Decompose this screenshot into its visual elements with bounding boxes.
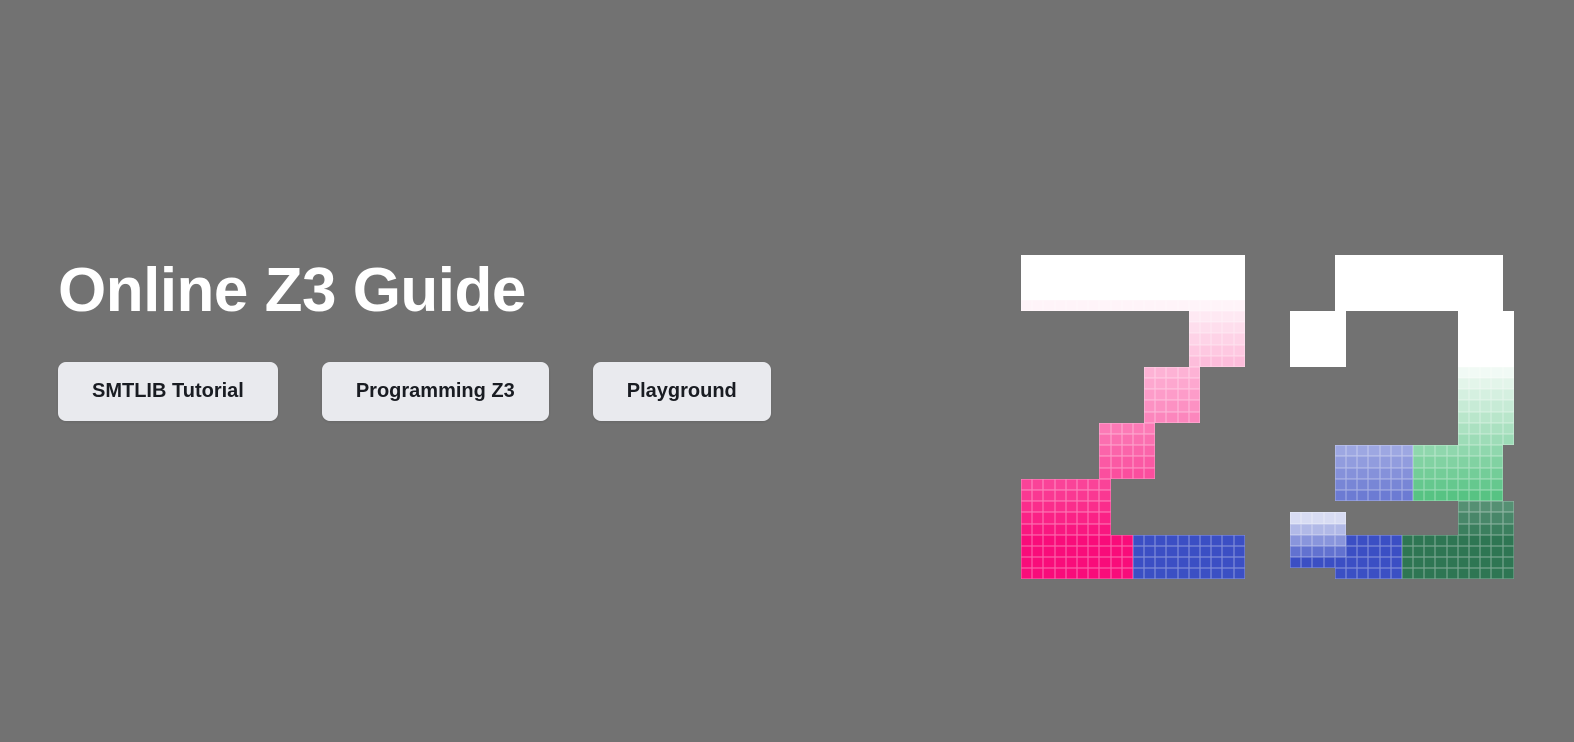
logo-pixel — [1380, 378, 1391, 389]
logo-pixel — [1021, 434, 1032, 445]
logo-pixel — [1088, 535, 1099, 546]
logo-pixel — [1122, 535, 1133, 546]
logo-pixel — [1077, 501, 1088, 512]
logo-pixel — [1301, 300, 1312, 311]
logo-pixel — [1200, 333, 1211, 344]
logo-pixel — [1211, 389, 1222, 400]
logo-pixel — [1335, 445, 1346, 456]
logo-pixel — [1066, 468, 1077, 479]
logo-pixel — [1380, 400, 1391, 411]
logo-pixel — [1324, 456, 1335, 467]
logo-pixel — [1447, 300, 1458, 311]
logo-pixel — [1480, 490, 1491, 501]
logo-pixel — [1088, 490, 1099, 501]
logo-pixel — [1413, 423, 1424, 434]
logo-pixel — [1357, 512, 1368, 523]
logo-pixel — [1458, 445, 1469, 456]
logo-pixel — [1312, 289, 1323, 300]
logo-pixel — [1133, 266, 1144, 277]
logo-pixel — [1335, 512, 1346, 523]
logo-pixel — [1032, 322, 1043, 333]
logo-pixel — [1133, 367, 1144, 378]
page-title: Online Z3 Guide — [58, 258, 958, 323]
logo-pixel — [1155, 300, 1166, 311]
logo-pixel — [1088, 512, 1099, 523]
logo-pixel — [1155, 568, 1166, 579]
logo-pixel — [1301, 345, 1312, 356]
logo-pixel — [1491, 289, 1502, 300]
logo-pixel — [1021, 333, 1032, 344]
logo-pixel — [1357, 434, 1368, 445]
logo-pixel — [1099, 345, 1110, 356]
logo-pixel — [1234, 277, 1245, 288]
logo-pixel — [1133, 557, 1144, 568]
logo-pixel — [1312, 535, 1323, 546]
logo-pixel — [1402, 289, 1413, 300]
logo-pixel — [1402, 423, 1413, 434]
logo-pixel — [1368, 378, 1379, 389]
logo-pixel — [1144, 356, 1155, 367]
logo-pixel — [1503, 322, 1514, 333]
logo-pixel — [1133, 311, 1144, 322]
logo-pixel — [1088, 445, 1099, 456]
logo-pixel — [1166, 311, 1177, 322]
logo-pixel — [1469, 512, 1480, 523]
logo-pixel — [1335, 557, 1346, 568]
logo-pixel — [1055, 255, 1066, 266]
logo-pixel — [1077, 255, 1088, 266]
logo-pixel — [1178, 367, 1189, 378]
logo-pixel — [1166, 490, 1177, 501]
logo-pixel — [1043, 445, 1054, 456]
logo-pixel — [1435, 434, 1446, 445]
logo-pixel — [1447, 333, 1458, 344]
logo-pixel — [1368, 434, 1379, 445]
logo-pixel — [1324, 445, 1335, 456]
logo-pixel — [1491, 266, 1502, 277]
logo-pixel — [1424, 400, 1435, 411]
logo-pixel — [1413, 400, 1424, 411]
logo-pixel — [1222, 378, 1233, 389]
logo-pixel — [1234, 434, 1245, 445]
logo-pixel — [1391, 490, 1402, 501]
logo-pixel — [1424, 557, 1435, 568]
logo-pixel — [1435, 367, 1446, 378]
logo-pixel — [1368, 568, 1379, 579]
logo-pixel — [1402, 345, 1413, 356]
logo-pixel — [1189, 367, 1200, 378]
logo-pixel — [1222, 524, 1233, 535]
logo-pixel — [1391, 389, 1402, 400]
logo-pixel — [1166, 535, 1177, 546]
logo-pixel — [1055, 311, 1066, 322]
logo-pixel — [1391, 524, 1402, 535]
logo-pixel — [1290, 311, 1301, 322]
logo-pixel — [1312, 468, 1323, 479]
logo-pixel — [1413, 289, 1424, 300]
logo-pixel — [1189, 389, 1200, 400]
logo-pixel — [1178, 277, 1189, 288]
logo-pixel — [1133, 524, 1144, 535]
logo-pixel — [1200, 568, 1211, 579]
playground-button[interactable]: Playground — [593, 362, 771, 421]
logo-pixel — [1301, 557, 1312, 568]
logo-pixel — [1234, 333, 1245, 344]
logo-pixel — [1144, 512, 1155, 523]
logo-pixel — [1055, 535, 1066, 546]
logo-pixel — [1043, 255, 1054, 266]
logo-pixel — [1335, 535, 1346, 546]
logo-pixel — [1380, 289, 1391, 300]
logo-pixel — [1491, 445, 1502, 456]
logo-pixel — [1211, 277, 1222, 288]
logo-pixel — [1480, 400, 1491, 411]
logo-pixel — [1144, 289, 1155, 300]
logo-pixel — [1099, 445, 1110, 456]
logo-pixel — [1469, 524, 1480, 535]
logo-pixel — [1357, 445, 1368, 456]
logo-pixel — [1480, 546, 1491, 557]
logo-pixel — [1133, 546, 1144, 557]
logo-pixel — [1055, 412, 1066, 423]
logo-pixel — [1144, 479, 1155, 490]
logo-pixel — [1077, 322, 1088, 333]
logo-pixel — [1144, 557, 1155, 568]
logo-pixel — [1055, 367, 1066, 378]
logo-pixel — [1380, 479, 1391, 490]
logo-pixel — [1480, 445, 1491, 456]
logo-pixel — [1301, 311, 1312, 322]
logo-pixel — [1178, 479, 1189, 490]
logo-pixel — [1166, 277, 1177, 288]
z3-pixel-logo — [1015, 255, 1535, 595]
logo-pixel — [1491, 412, 1502, 423]
logo-pixel — [1491, 501, 1502, 512]
logo-pixel — [1447, 289, 1458, 300]
logo-pixel — [1380, 345, 1391, 356]
logo-pixel — [1424, 356, 1435, 367]
logo-pixel — [1234, 445, 1245, 456]
logo-pixel — [1166, 524, 1177, 535]
logo-pixel — [1155, 289, 1166, 300]
logo-pixel — [1211, 434, 1222, 445]
logo-pixel — [1222, 501, 1233, 512]
logo-pixel — [1043, 501, 1054, 512]
logo-pixel — [1155, 423, 1166, 434]
logo-pixel — [1424, 266, 1435, 277]
logo-pixel — [1032, 378, 1043, 389]
logo-pixel — [1122, 367, 1133, 378]
logo-pixel — [1200, 289, 1211, 300]
logo-pixel — [1211, 423, 1222, 434]
logo-pixel — [1122, 300, 1133, 311]
logo-pixel — [1324, 389, 1335, 400]
logo-pixel — [1458, 546, 1469, 557]
logo-pixel — [1178, 456, 1189, 467]
logo-pixel — [1055, 333, 1066, 344]
logo-pixel — [1055, 546, 1066, 557]
logo-pixel — [1178, 311, 1189, 322]
logo-pixel — [1413, 445, 1424, 456]
hero-text-block: Online Z3 Guide SMTLIB Tutorial Programm… — [58, 258, 958, 421]
logo-pixel — [1032, 389, 1043, 400]
logo-pixel — [1357, 456, 1368, 467]
logo-pixel — [1066, 535, 1077, 546]
logo-pixel — [1043, 535, 1054, 546]
logo-pixel — [1166, 456, 1177, 467]
logo-pixel — [1458, 557, 1469, 568]
logo-pixel — [1413, 512, 1424, 523]
logo-pixel — [1335, 300, 1346, 311]
logo-pixel — [1290, 490, 1301, 501]
logo-pixel — [1144, 546, 1155, 557]
logo-pixel — [1178, 412, 1189, 423]
logo-pixel — [1234, 322, 1245, 333]
logo-pixel — [1166, 255, 1177, 266]
logo-pixel — [1189, 445, 1200, 456]
logo-pixel — [1178, 322, 1189, 333]
logo-pixel — [1189, 300, 1200, 311]
logo-pixel — [1447, 322, 1458, 333]
logo-pixel — [1066, 423, 1077, 434]
logo-pixel — [1066, 557, 1077, 568]
logo-pixel — [1346, 255, 1357, 266]
logo-pixel — [1211, 289, 1222, 300]
logo-pixel — [1055, 456, 1066, 467]
logo-pixel — [1335, 289, 1346, 300]
logo-pixel — [1491, 557, 1502, 568]
logo-pixel — [1155, 479, 1166, 490]
logo-pixel — [1178, 535, 1189, 546]
logo-pixel — [1402, 557, 1413, 568]
logo-pixel — [1435, 423, 1446, 434]
logo-pixel — [1458, 512, 1469, 523]
logo-pixel — [1178, 557, 1189, 568]
logo-pixel — [1111, 378, 1122, 389]
logo-pixel — [1503, 356, 1514, 367]
logo-pixel — [1155, 512, 1166, 523]
logo-pixel — [1503, 289, 1514, 300]
logo-pixel — [1368, 524, 1379, 535]
logo-pixel — [1200, 423, 1211, 434]
logo-pixel — [1503, 412, 1514, 423]
logo-pixel — [1380, 456, 1391, 467]
logo-pixel — [1424, 255, 1435, 266]
logo-pixel — [1021, 367, 1032, 378]
logo-pixel — [1357, 524, 1368, 535]
programming-z3-button[interactable]: Programming Z3 — [322, 362, 549, 421]
logo-pixel — [1346, 512, 1357, 523]
logo-pixel — [1402, 546, 1413, 557]
logo-pixel — [1200, 479, 1211, 490]
logo-pixel — [1043, 479, 1054, 490]
logo-pixel — [1480, 322, 1491, 333]
logo-pixel — [1189, 479, 1200, 490]
logo-pixel — [1122, 490, 1133, 501]
logo-pixel — [1234, 557, 1245, 568]
logo-pixel — [1413, 356, 1424, 367]
logo-pixel — [1491, 423, 1502, 434]
logo-pixel — [1066, 546, 1077, 557]
logo-pixel — [1189, 333, 1200, 344]
logo-pixel — [1166, 389, 1177, 400]
logo-pixel — [1503, 445, 1514, 456]
logo-pixel — [1032, 400, 1043, 411]
logo-pixel — [1391, 568, 1402, 579]
logo-pixel — [1424, 568, 1435, 579]
logo-pixel — [1368, 300, 1379, 311]
logo-pixel — [1234, 456, 1245, 467]
logo-pixel — [1458, 266, 1469, 277]
logo-pixel — [1447, 557, 1458, 568]
logo-pixel — [1222, 434, 1233, 445]
logo-pixel — [1413, 412, 1424, 423]
logo-pixel — [1222, 479, 1233, 490]
logo-pixel — [1380, 568, 1391, 579]
logo-pixel — [1043, 512, 1054, 523]
logo-pixel — [1335, 400, 1346, 411]
logo-pixel — [1413, 568, 1424, 579]
logo-pixel — [1335, 412, 1346, 423]
logo-pixel — [1144, 490, 1155, 501]
logo-pixel — [1480, 300, 1491, 311]
logo-pixel — [1447, 356, 1458, 367]
logo-pixel — [1380, 255, 1391, 266]
logo-pixel — [1312, 333, 1323, 344]
logo-pixel — [1043, 456, 1054, 467]
logo-pixel — [1402, 479, 1413, 490]
logo-pixel — [1021, 423, 1032, 434]
logo-pixel — [1357, 423, 1368, 434]
logo-pixel — [1234, 501, 1245, 512]
logo-pixel — [1144, 434, 1155, 445]
logo-pixel — [1178, 468, 1189, 479]
logo-pixel — [1424, 512, 1435, 523]
logo-pixel — [1055, 524, 1066, 535]
logo-pixel — [1066, 434, 1077, 445]
logo-pixel — [1368, 266, 1379, 277]
logo-pixel — [1447, 479, 1458, 490]
logo-pixel — [1077, 568, 1088, 579]
logo-pixel — [1447, 400, 1458, 411]
logo-pixel — [1189, 277, 1200, 288]
logo-pixel — [1480, 501, 1491, 512]
logo-pixel — [1402, 322, 1413, 333]
logo-pixel — [1301, 356, 1312, 367]
logo-pixel — [1099, 333, 1110, 344]
logo-pixel — [1480, 524, 1491, 535]
logo-pixel — [1491, 333, 1502, 344]
logo-pixel — [1503, 333, 1514, 344]
logo-pixel — [1066, 266, 1077, 277]
logo-pixel — [1469, 568, 1480, 579]
logo-pixel — [1503, 512, 1514, 523]
logo-pixel — [1301, 255, 1312, 266]
logo-pixel — [1435, 546, 1446, 557]
logo-pixel — [1424, 412, 1435, 423]
logo-pixel — [1368, 389, 1379, 400]
logo-pixel — [1458, 400, 1469, 411]
logo-pixel — [1458, 412, 1469, 423]
logo-pixel — [1189, 378, 1200, 389]
logo-pixel — [1088, 367, 1099, 378]
logo-pixel — [1155, 389, 1166, 400]
logo-pixel — [1391, 255, 1402, 266]
logo-pixel — [1435, 277, 1446, 288]
logo-pixel — [1066, 389, 1077, 400]
logo-pixel — [1469, 356, 1480, 367]
logo-pixel — [1133, 389, 1144, 400]
logo-pixel — [1032, 501, 1043, 512]
logo-pixel — [1503, 389, 1514, 400]
logo-pixel — [1335, 322, 1346, 333]
logo-pixel — [1099, 535, 1110, 546]
logo-pixel — [1032, 277, 1043, 288]
logo-pixel — [1211, 266, 1222, 277]
logo-pixel — [1469, 322, 1480, 333]
logo-pixel — [1211, 311, 1222, 322]
logo-pixel — [1357, 289, 1368, 300]
logo-pixel — [1458, 389, 1469, 400]
logo-pixel — [1491, 277, 1502, 288]
logo-pixel — [1144, 300, 1155, 311]
logo-pixel — [1424, 445, 1435, 456]
logo-pixel — [1166, 445, 1177, 456]
logo-pixel — [1066, 311, 1077, 322]
logo-pixel — [1413, 322, 1424, 333]
logo-pixel — [1301, 535, 1312, 546]
logo-pixel — [1200, 557, 1211, 568]
logo-pixel — [1111, 546, 1122, 557]
logo-pixel — [1122, 423, 1133, 434]
smtlib-tutorial-button[interactable]: SMTLIB Tutorial — [58, 362, 278, 421]
logo-pixel — [1077, 479, 1088, 490]
logo-pixel — [1032, 456, 1043, 467]
logo-pixel — [1301, 378, 1312, 389]
logo-pixel — [1021, 524, 1032, 535]
logo-pixel — [1290, 568, 1301, 579]
logo-pixel — [1290, 468, 1301, 479]
logo-pixel — [1335, 490, 1346, 501]
logo-pixel — [1043, 300, 1054, 311]
logo-pixel — [1200, 378, 1211, 389]
logo-pixel — [1469, 400, 1480, 411]
logo-pixel — [1155, 356, 1166, 367]
logo-pixel — [1211, 468, 1222, 479]
logo-pixel — [1312, 356, 1323, 367]
logo-pixel — [1312, 412, 1323, 423]
logo-pixel — [1324, 378, 1335, 389]
logo-pixel — [1447, 423, 1458, 434]
logo-pixel — [1346, 356, 1357, 367]
logo-pixel — [1346, 412, 1357, 423]
glyph-three-icon — [1290, 255, 1514, 579]
logo-pixel — [1099, 412, 1110, 423]
logo-pixel — [1346, 479, 1357, 490]
logo-pixel — [1469, 557, 1480, 568]
logo-pixel — [1077, 490, 1088, 501]
logo-pixel — [1346, 546, 1357, 557]
logo-pixel — [1055, 434, 1066, 445]
logo-pixel — [1211, 512, 1222, 523]
logo-pixel — [1368, 333, 1379, 344]
logo-pixel — [1234, 479, 1245, 490]
logo-pixel — [1458, 423, 1469, 434]
logo-pixel — [1066, 345, 1077, 356]
logo-pixel — [1111, 557, 1122, 568]
logo-pixel — [1200, 456, 1211, 467]
logo-pixel — [1458, 568, 1469, 579]
